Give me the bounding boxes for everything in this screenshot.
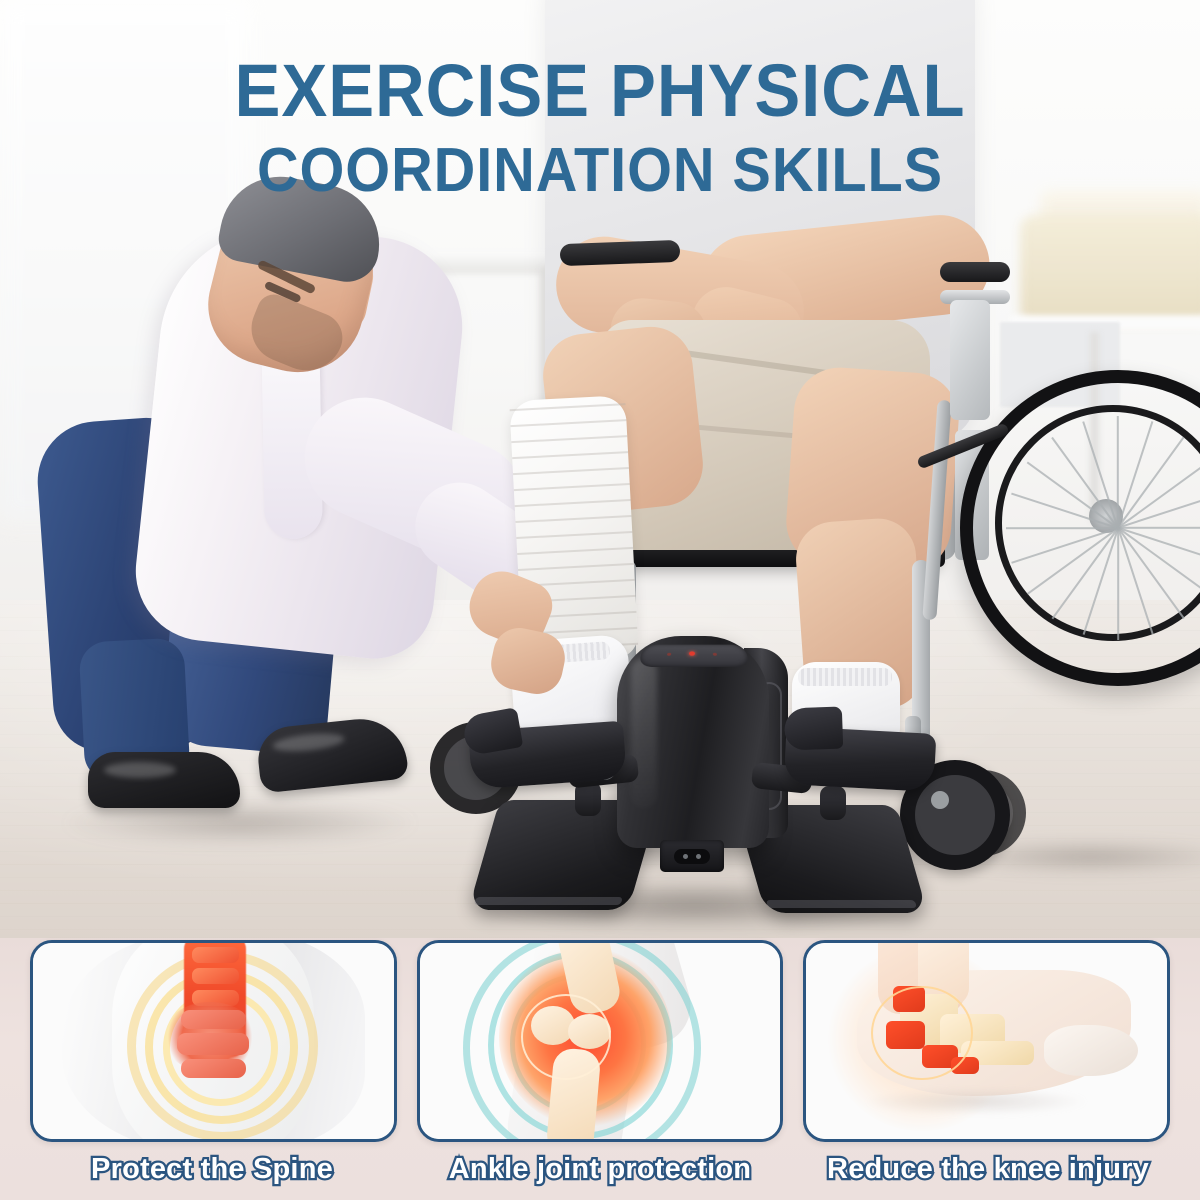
pedal-exerciser-drum — [617, 636, 769, 848]
drum-highlight — [631, 658, 657, 808]
lumbar-vertebra — [181, 1059, 246, 1079]
caster-hub — [931, 791, 949, 809]
bandage-wrap-line — [514, 483, 630, 491]
bandage-wrap-line — [511, 435, 627, 443]
pedal-right[interactable] — [784, 726, 937, 792]
feature-card-knee[interactable] — [803, 940, 1170, 1142]
bandage-wrap-line — [517, 547, 633, 555]
headline-line-1: EXERCISE PHYSICAL — [42, 54, 1158, 128]
feature-card-ankle[interactable] — [417, 940, 784, 1142]
mode-led-indicator-right — [713, 653, 717, 656]
lumbar-vertebra — [181, 1010, 246, 1030]
ankle-anatomy-icon — [806, 943, 1167, 1139]
socket-pin-left — [683, 854, 688, 859]
socket-pin-right — [696, 854, 701, 859]
power-led-indicator — [689, 651, 695, 655]
feature-card-list — [0, 940, 1200, 1140]
headline-line-2: COORDINATION SKILLS — [42, 140, 1158, 202]
background-couch — [1020, 215, 1200, 325]
base-edge — [474, 897, 623, 905]
product-control-panel[interactable] — [637, 645, 751, 667]
shoe-highlight — [272, 731, 345, 754]
socket-recess — [674, 849, 710, 864]
ankle-focus-circle — [871, 986, 972, 1080]
wheelchair-armrest-left — [560, 240, 681, 266]
bandage-wrap-line — [516, 531, 632, 539]
bandage-wrap-line — [510, 403, 626, 411]
wheel-spoke — [1117, 528, 1119, 640]
pedal-left[interactable] — [468, 721, 627, 790]
bandage-wrap-line — [513, 467, 629, 475]
product-marketing-image: EXERCISE PHYSICAL COORDINATION SKILLS — [0, 0, 1200, 1200]
vertebra — [192, 968, 239, 984]
pedal-post-right — [820, 786, 846, 820]
wheelchair-armrest-right — [940, 262, 1010, 282]
bandage-wrap-line — [510, 419, 626, 427]
base-edge — [766, 900, 917, 908]
hero-scene: EXERCISE PHYSICAL COORDINATION SKILLS — [0, 0, 1200, 940]
wheelchair-mechanism-upper — [950, 300, 990, 420]
heel-cup-right — [784, 707, 843, 751]
headline-block: EXERCISE PHYSICAL COORDINATION SKILLS — [0, 54, 1200, 202]
wheel-spoke — [1118, 527, 1200, 529]
vertebra — [192, 947, 239, 963]
spine-anatomy-icon — [33, 943, 394, 1139]
doctor-shoe-left — [88, 752, 240, 808]
sock-ribbing — [798, 668, 892, 686]
knee-focus-circle — [521, 994, 612, 1080]
power-socket — [660, 840, 724, 872]
toe-silhouette — [1044, 1025, 1138, 1076]
shoe-highlight — [104, 762, 176, 778]
bandage-wrap-line — [512, 451, 628, 459]
bandage-wrap-line — [516, 515, 632, 523]
mode-led-indicator-left — [667, 653, 671, 656]
wheel-spoke — [1117, 416, 1119, 528]
caption-spine: Protect the Spine — [18, 1153, 406, 1186]
caption-ankle: Ankle joint protection — [406, 1153, 794, 1186]
feature-caption-row: Protect the Spine Ankle joint protection… — [0, 1138, 1200, 1200]
lumbar-vertebra — [177, 1033, 249, 1055]
bandage-wrap-line — [515, 499, 631, 507]
bandage-wrap-line — [518, 563, 634, 571]
knee-anatomy-icon — [420, 943, 781, 1139]
caption-knee: Reduce the knee injury — [794, 1153, 1182, 1186]
wheel-spoke — [1006, 527, 1118, 529]
feature-card-spine[interactable] — [30, 940, 397, 1142]
